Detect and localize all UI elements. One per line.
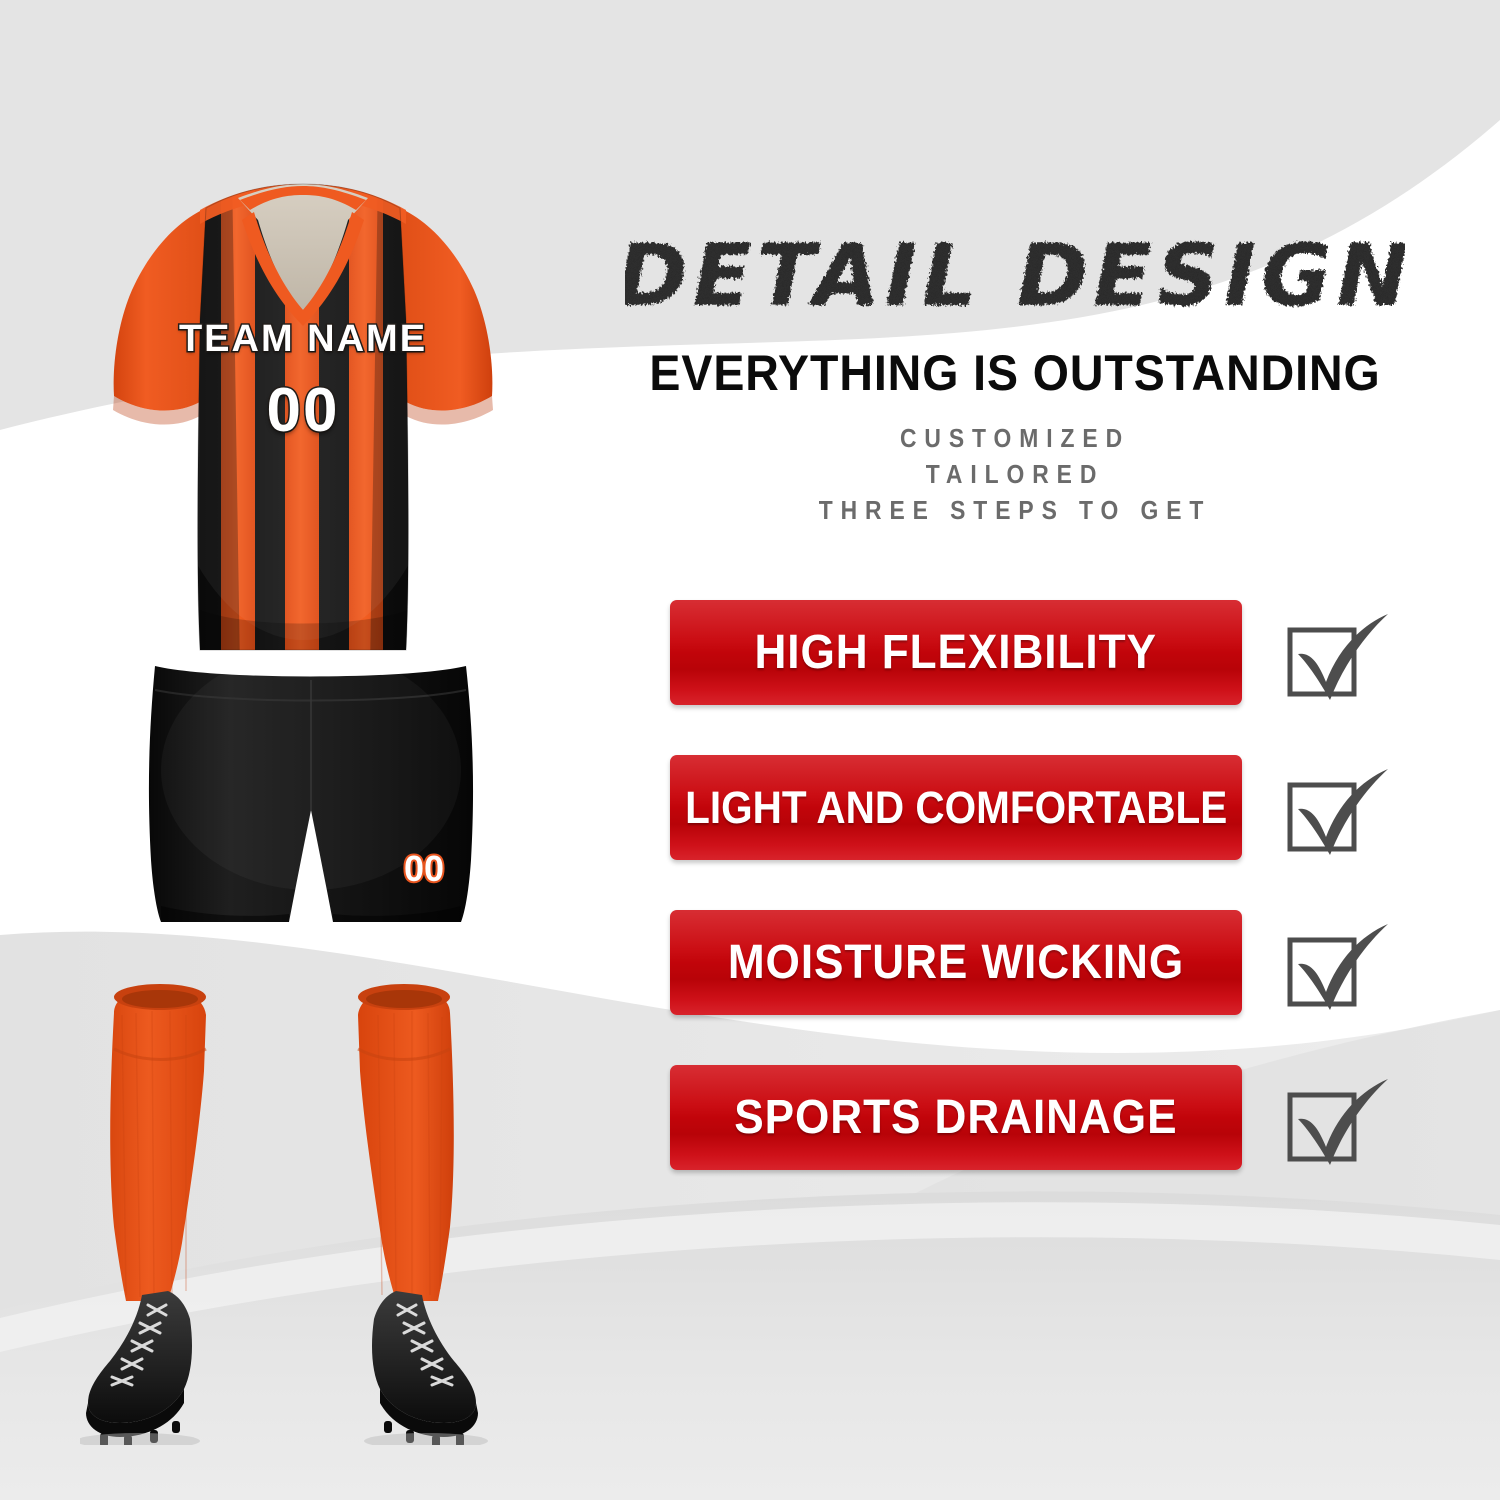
headline-subtitle: EVERYTHING IS OUTSTANDING [587, 345, 1443, 401]
marketing-content: DETAIL DESIGN EVERYTHING IS OUTSTANDING … [555, 0, 1500, 1500]
checkbox-checked-icon[interactable] [1282, 918, 1397, 1018]
feature-banner-high-flexibility[interactable]: HIGH FLEXIBILITY [670, 600, 1242, 705]
legs-svg [80, 975, 540, 1445]
jersey-team-name: TEAM NAME [88, 318, 518, 360]
feature-row: LIGHT AND COMFORTABLE [670, 755, 1470, 910]
feature-label: HIGH FLEXIBILITY [755, 628, 1157, 678]
feature-banner-moisture-wicking[interactable]: MOISTURE WICKING [670, 910, 1242, 1015]
feature-banner-sports-drainage[interactable]: SPORTS DRAINAGE [670, 1065, 1242, 1170]
feature-row: HIGH FLEXIBILITY [670, 600, 1470, 755]
feature-row: SPORTS DRAINAGE [670, 1065, 1470, 1220]
poster-canvas: TEAM NAME 00 [0, 0, 1500, 1500]
socks-and-cleats-image [80, 975, 540, 1445]
detail-design-title-svg: DETAIL DESIGN [625, 225, 1405, 335]
checkbox-checked-svg [1282, 1073, 1397, 1173]
feature-list: HIGH FLEXIBILITY LIGHT AND COMFORTABLE [670, 600, 1470, 1220]
tagline-3: THREE STEPS TO GET [610, 492, 1420, 528]
feature-label: LIGHT AND COMFORTABLE [685, 783, 1227, 833]
product-photo-group: TEAM NAME 00 [0, 0, 600, 1500]
tagline-block: CUSTOMIZED TAILORED THREE STEPS TO GET [555, 420, 1475, 528]
feature-label: MOISTURE WICKING [728, 938, 1184, 988]
headline-block: DETAIL DESIGN [555, 225, 1475, 335]
checkbox-checked-svg [1282, 608, 1397, 708]
checkbox-checked-icon[interactable] [1282, 763, 1397, 863]
shorts-image: 00 [133, 660, 488, 935]
tagline-1: CUSTOMIZED [610, 420, 1420, 456]
checkbox-checked-icon[interactable] [1282, 608, 1397, 708]
shorts-number: 00 [404, 848, 444, 890]
feature-label: SPORTS DRAINAGE [734, 1093, 1177, 1143]
checkbox-checked-svg [1282, 763, 1397, 863]
headline-title-text: DETAIL DESIGN [625, 226, 1405, 326]
jersey-image: TEAM NAME 00 [88, 150, 518, 680]
tagline-2: TAILORED [610, 456, 1420, 492]
feature-row: MOISTURE WICKING [670, 910, 1470, 1065]
shorts-svg [133, 660, 488, 935]
checkbox-checked-svg [1282, 918, 1397, 1018]
feature-banner-light-and-comfortable[interactable]: LIGHT AND COMFORTABLE [670, 755, 1242, 860]
checkbox-checked-icon[interactable] [1282, 1073, 1397, 1173]
jersey-number: 00 [88, 378, 518, 444]
